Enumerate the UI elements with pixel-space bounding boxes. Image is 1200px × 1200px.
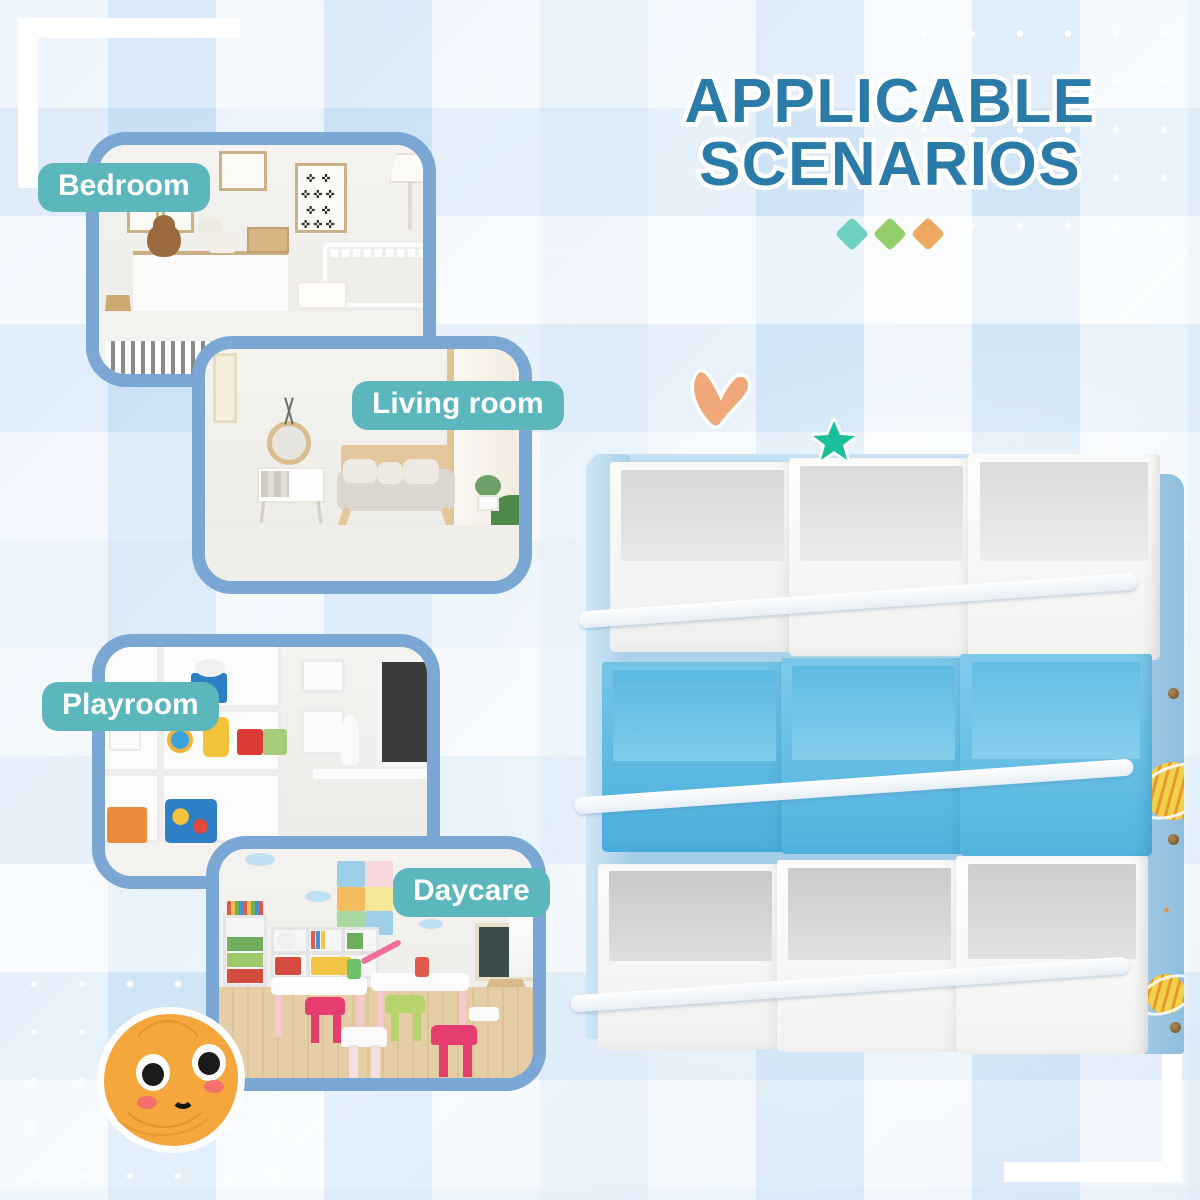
chalkboard bbox=[377, 657, 427, 767]
desk bbox=[311, 767, 427, 781]
storage-bin[interactable] bbox=[777, 860, 962, 1052]
round-mirror bbox=[267, 421, 311, 465]
stool-leg bbox=[439, 1043, 448, 1077]
pencil-cup bbox=[415, 957, 429, 977]
toy-storage-organizer: ✦ ✦ ✦ bbox=[570, 440, 1200, 1100]
wall-niche bbox=[301, 659, 345, 693]
storage-bin[interactable] bbox=[781, 658, 966, 854]
toy-box-green bbox=[263, 729, 287, 755]
toy-bin bbox=[311, 957, 351, 975]
bin-interior bbox=[968, 864, 1137, 959]
corner-bracket-top-left bbox=[18, 18, 38, 188]
bin-interior bbox=[613, 670, 776, 761]
wall-frame bbox=[219, 151, 267, 191]
table-lamp bbox=[341, 713, 359, 765]
page-title-line-1: APPLICABLE bbox=[684, 67, 1095, 136]
drawer-green bbox=[227, 937, 263, 951]
scenario-label-playroom: Playroom bbox=[42, 682, 219, 731]
page-title: APPLICABLE SCENARIOS bbox=[600, 72, 1180, 196]
smiley-pupil-right bbox=[198, 1052, 220, 1075]
wall-chart bbox=[365, 887, 393, 911]
storage-bin[interactable] bbox=[602, 662, 787, 852]
smiley-cheek-right bbox=[204, 1080, 224, 1093]
book bbox=[311, 931, 315, 949]
toy-box-red bbox=[237, 729, 263, 755]
bin-interior bbox=[792, 666, 955, 760]
toy-box-orange bbox=[107, 807, 147, 843]
cloud-decal bbox=[305, 891, 331, 902]
bin-interior bbox=[800, 466, 963, 561]
cloud-decal bbox=[419, 919, 443, 929]
lamp-stand bbox=[408, 181, 412, 229]
diamond-orange-icon bbox=[911, 217, 945, 251]
stool-pink bbox=[431, 1025, 477, 1045]
diamond-green-icon bbox=[873, 217, 907, 251]
stool-leg bbox=[371, 1045, 380, 1078]
plant-pot bbox=[477, 495, 499, 511]
bin-interior bbox=[621, 470, 784, 561]
kids-table bbox=[271, 977, 367, 995]
bed-rail bbox=[331, 249, 423, 257]
cloud-decal bbox=[245, 853, 275, 866]
screw-icon bbox=[1168, 688, 1179, 699]
sofa-cushion bbox=[343, 459, 377, 483]
shelf-divider bbox=[271, 951, 379, 955]
toy-marble-run bbox=[165, 799, 217, 843]
drawer-green bbox=[227, 953, 263, 967]
wall-art bbox=[213, 353, 237, 423]
storage-box bbox=[209, 233, 235, 253]
heart-icon bbox=[688, 368, 754, 430]
stool-leg bbox=[333, 1013, 341, 1043]
sofa-cushion bbox=[377, 462, 403, 484]
page-header: APPLICABLE SCENARIOS bbox=[600, 72, 1180, 246]
smiley-ball bbox=[97, 1007, 245, 1153]
drawer-red bbox=[227, 969, 263, 983]
wooden-crate bbox=[247, 227, 289, 253]
wall-poster: ✜ ✜ ✜ ✜ ✜ ✜ ✜ ✜ ✜ ✜ bbox=[295, 163, 347, 233]
sideboard-pattern bbox=[261, 471, 289, 497]
bin-interior bbox=[609, 871, 772, 960]
stool-leg bbox=[349, 1045, 358, 1078]
sofa-cushion bbox=[403, 459, 439, 484]
book bbox=[316, 931, 320, 949]
smiley-eye-right bbox=[192, 1044, 226, 1081]
pencil-cup bbox=[347, 959, 361, 979]
storage-box bbox=[199, 219, 221, 233]
corner-bracket-top-left bbox=[18, 18, 240, 38]
page-title-line-2: SCENARIOS bbox=[600, 135, 1180, 196]
bin-interior bbox=[788, 868, 951, 960]
corner-bracket-bottom-right bbox=[1004, 1162, 1182, 1182]
diamond-divider bbox=[600, 222, 1180, 246]
wall-chart bbox=[365, 861, 393, 887]
smiley-pupil-left bbox=[142, 1063, 164, 1086]
bin-interior bbox=[980, 462, 1149, 561]
star-icon bbox=[812, 418, 856, 462]
toy-bin bbox=[275, 957, 301, 975]
stool-white bbox=[469, 1007, 499, 1021]
floor bbox=[205, 525, 519, 581]
plush-toy bbox=[195, 659, 225, 677]
stool-white bbox=[341, 1027, 387, 1047]
table-leg bbox=[275, 995, 282, 1037]
wall-chart bbox=[337, 861, 365, 887]
wall-chart bbox=[337, 887, 365, 911]
storage-bin[interactable] bbox=[789, 458, 974, 656]
teddy-bear-head bbox=[153, 215, 175, 235]
basket bbox=[297, 281, 347, 309]
screw-icon bbox=[1168, 834, 1179, 845]
stool-leg bbox=[311, 1013, 319, 1043]
book bbox=[321, 931, 325, 949]
soccer-ball bbox=[277, 931, 297, 949]
scenario-card-living-room[interactable] bbox=[192, 336, 532, 594]
small-plant bbox=[475, 475, 501, 497]
storage-bin[interactable] bbox=[956, 856, 1148, 1054]
toy-clock bbox=[167, 727, 193, 753]
shelf-divider bbox=[157, 647, 164, 843]
stool-leg bbox=[391, 1011, 399, 1041]
diamond-teal-icon bbox=[835, 217, 869, 251]
smiley-cheek-left bbox=[137, 1096, 157, 1109]
toy-block bbox=[347, 933, 363, 949]
smiley-face-icon bbox=[90, 1000, 252, 1160]
bin-interior bbox=[972, 662, 1141, 759]
scenario-label-daycare: Daycare bbox=[393, 868, 550, 917]
wall-niche bbox=[301, 709, 345, 755]
storage-bin[interactable] bbox=[960, 654, 1152, 856]
dresser bbox=[133, 251, 288, 311]
screw-icon bbox=[1170, 1022, 1181, 1033]
window-light bbox=[509, 907, 533, 977]
smiley-eye-left bbox=[136, 1054, 170, 1091]
storage-bin[interactable] bbox=[968, 454, 1160, 660]
storage-bin[interactable] bbox=[598, 864, 783, 1050]
scenario-label-bedroom: Bedroom bbox=[38, 163, 210, 212]
stool-leg bbox=[413, 1011, 421, 1041]
shelf-divider bbox=[105, 769, 281, 776]
shelf-divider bbox=[306, 927, 310, 979]
stool-leg bbox=[463, 1043, 472, 1077]
sparkle-icon: ✦ bbox=[1162, 904, 1171, 917]
scenario-label-living-room: Living room bbox=[352, 381, 564, 430]
